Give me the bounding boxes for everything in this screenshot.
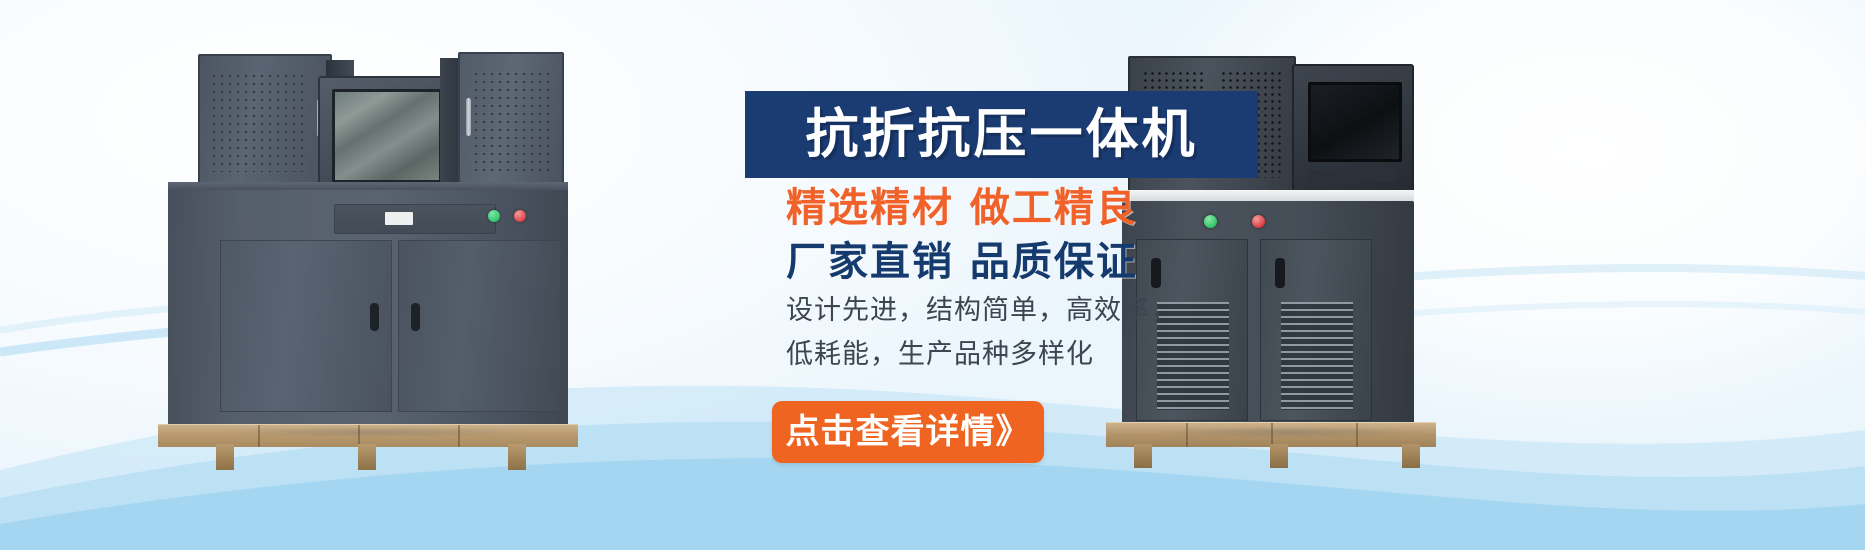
door-handle-icon (411, 303, 420, 331)
control-drawer (334, 204, 496, 234)
nameplate-label (385, 212, 413, 225)
right-upper-cabinet-door (458, 52, 564, 192)
product-image-left (168, 48, 568, 433)
lower-cabinet-door-right (1260, 239, 1372, 421)
view-details-label: 点击查看详情》 (786, 415, 1031, 449)
subheadline-blue: 厂家直销 品质保证 (786, 240, 1138, 284)
monitor-screen (1308, 82, 1402, 162)
floor-shadow-right (1096, 424, 1486, 440)
power-indicator-green (488, 210, 500, 222)
body-top-lip (168, 182, 568, 190)
control-monitor-housing (1292, 64, 1414, 194)
headline-text: 抗折抗压一体机 (806, 108, 1198, 161)
pallet-leg (1402, 444, 1420, 468)
monitor-base (1308, 170, 1396, 182)
monitor-screen (332, 89, 442, 183)
power-indicator-red (514, 210, 526, 222)
vent-louvers-icon (1281, 302, 1353, 410)
pallet-leg (358, 444, 376, 470)
power-indicator-green (1204, 215, 1217, 228)
description-line-2: 低耗能，生产品种多样化 (786, 340, 1094, 370)
subheadline-orange: 精选精材 做工精良 (786, 186, 1138, 230)
lower-cabinet-door-left (220, 240, 392, 412)
cabinet-handle-icon (466, 98, 471, 136)
door-handle-icon (1151, 258, 1161, 288)
lower-cabinet-door-left (1136, 239, 1248, 421)
view-details-button[interactable]: 点击查看详情》 (772, 401, 1044, 463)
description-line-1: 设计先进，结构简单，高效率， (786, 296, 1178, 326)
pallet-leg (216, 444, 234, 470)
pallet-leg (508, 444, 526, 470)
power-indicator-red (1252, 215, 1265, 228)
control-monitor-housing (318, 76, 452, 198)
perforated-panel-icon (210, 72, 306, 172)
left-upper-cabinet-door (198, 54, 332, 191)
door-handle-icon (1275, 258, 1285, 288)
floor-shadow-left (150, 424, 600, 440)
pallet-leg (1270, 444, 1288, 468)
pallet-leg (1134, 444, 1152, 468)
perforated-panel-icon (472, 70, 550, 174)
lower-cabinet-door-right (398, 240, 562, 412)
machine-body (168, 182, 568, 432)
promo-banner: 抗折抗压一体机 精选精材 做工精良 厂家直销 品质保证 设计先进，结构简单，高效… (0, 0, 1865, 550)
headline-banner: 抗折抗压一体机 (745, 91, 1258, 178)
door-handle-icon (370, 303, 379, 331)
